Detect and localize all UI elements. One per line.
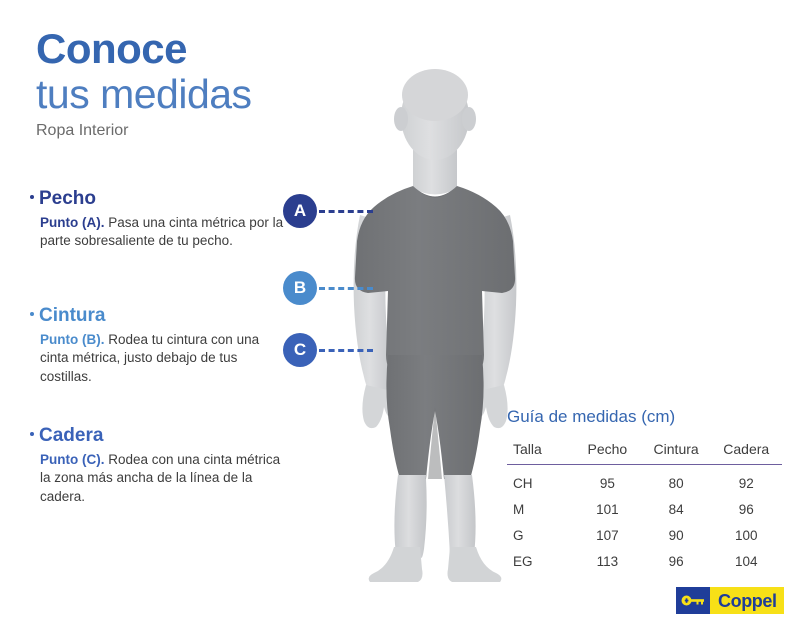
cell-cintura: 90	[642, 522, 711, 548]
cell-cintura: 84	[642, 496, 711, 522]
section-cintura-heading: Cintura	[30, 305, 285, 327]
size-guide-table: Talla Pecho Cintura Cadera CH 95 80 92 M…	[507, 441, 782, 574]
section-cadera-body: Punto (C). Rodea con una cinta métrica l…	[40, 451, 285, 507]
size-guide-title: Guía de medidas (cm)	[507, 408, 782, 427]
callout-marker-b: B	[283, 271, 373, 305]
cell-pecho: 113	[573, 548, 642, 574]
section-cintura: Cintura Punto (B). Rodea tu cintura con …	[30, 305, 285, 387]
section-cintura-body: Punto (B). Rodea tu cintura con una cint…	[40, 331, 285, 387]
cell-cintura: 96	[642, 548, 711, 574]
key-icon	[681, 594, 705, 607]
cell-pecho: 107	[573, 522, 642, 548]
section-cadera-heading-text: Cadera	[39, 425, 103, 447]
cell-talla: EG	[507, 548, 573, 574]
callout-marker-a: A	[283, 194, 373, 228]
bullet-dot-icon	[30, 432, 34, 436]
cell-cintura: 80	[642, 464, 711, 496]
coppel-logo: Coppel	[676, 587, 784, 614]
callout-circle-a: A	[283, 194, 317, 228]
size-guide-block: Guía de medidas (cm) Talla Pecho Cintura…	[507, 408, 782, 574]
table-row: G 107 90 100	[507, 522, 782, 548]
logo-word-box: Coppel	[710, 587, 784, 614]
table-row: M 101 84 96	[507, 496, 782, 522]
callout-marker-c: C	[283, 333, 373, 367]
section-pecho-heading-text: Pecho	[39, 188, 96, 210]
logo-key-box	[676, 587, 710, 614]
cell-cadera: 100	[711, 522, 783, 548]
table-row: EG 113 96 104	[507, 548, 782, 574]
callout-dash-b	[319, 287, 373, 290]
cell-talla: G	[507, 522, 573, 548]
cell-pecho: 101	[573, 496, 642, 522]
callout-dash-a	[319, 210, 373, 213]
section-pecho: Pecho Punto (A). Pasa una cinta métrica …	[30, 188, 285, 251]
callout-dash-c	[319, 349, 373, 352]
section-pecho-body: Punto (A). Pasa una cinta métrica por la…	[40, 214, 285, 251]
section-cintura-point-label: Punto (B).	[40, 332, 104, 347]
cell-talla: M	[507, 496, 573, 522]
callout-circle-c: C	[283, 333, 317, 367]
section-cadera: Cadera Punto (C). Rodea con una cinta mé…	[30, 425, 285, 507]
cell-pecho: 95	[573, 464, 642, 496]
section-pecho-heading: Pecho	[30, 188, 285, 210]
cell-cadera: 96	[711, 496, 783, 522]
cell-cadera: 104	[711, 548, 783, 574]
page-title: Conoce	[36, 28, 336, 70]
section-cadera-point-label: Punto (C).	[40, 452, 104, 467]
page-category: Ropa Interior	[36, 122, 336, 140]
cell-cadera: 92	[711, 464, 783, 496]
table-row: CH 95 80 92	[507, 464, 782, 496]
bullet-dot-icon	[30, 312, 34, 316]
callout-circle-b: B	[283, 271, 317, 305]
bullet-dot-icon	[30, 195, 34, 199]
cell-talla: CH	[507, 464, 573, 496]
page-subtitle: tus medidas	[36, 72, 336, 116]
table-header-talla: Talla	[507, 441, 573, 465]
page-header: Conoce tus medidas Ropa Interior	[36, 28, 336, 140]
table-header-cintura: Cintura	[642, 441, 711, 465]
logo-wordmark: Coppel	[718, 592, 777, 610]
table-header-row: Talla Pecho Cintura Cadera	[507, 441, 782, 465]
section-cadera-heading: Cadera	[30, 425, 285, 447]
table-header-cadera: Cadera	[711, 441, 783, 465]
section-pecho-point-label: Punto (A).	[40, 215, 104, 230]
table-header-pecho: Pecho	[573, 441, 642, 465]
section-cintura-heading-text: Cintura	[39, 305, 106, 327]
